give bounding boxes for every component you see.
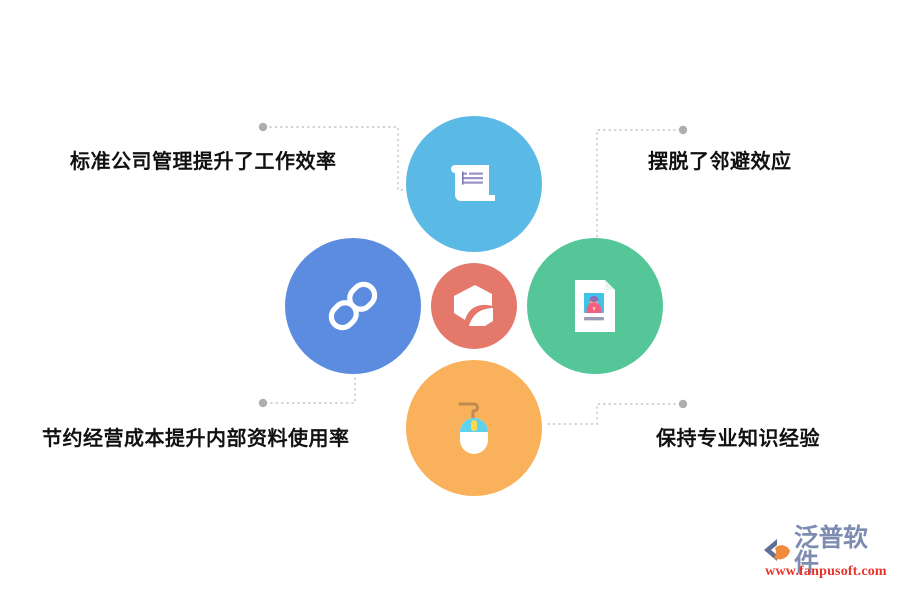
node-circle-center[interactable] <box>431 263 517 349</box>
connector-dot-bottom-left <box>259 399 267 407</box>
fanpu-swoosh-logo-icon <box>762 536 792 564</box>
node-label-bottom-left: 节约经营成本提升内部资料使用率 <box>42 422 350 451</box>
id-card-resume-icon <box>567 274 623 338</box>
node-circle-right[interactable] <box>527 238 663 374</box>
scroll-document-icon <box>443 153 505 215</box>
chain-link-icon <box>321 274 385 338</box>
connector-dot-bottom-right <box>679 400 687 408</box>
leaf-hexagon-logo-icon <box>452 283 496 329</box>
connector-bottom-right <box>545 404 681 424</box>
computer-mouse-icon <box>446 396 502 460</box>
node-label-bottom-right: 保持专业知识经验 <box>656 422 820 451</box>
watermark: 泛普软件 www.fanpusoft.com <box>762 533 890 589</box>
node-circle-bottom[interactable] <box>406 360 542 496</box>
watermark-url: www.fanpusoft.com <box>762 564 890 580</box>
infographic-canvas: 标准公司管理提升了工作效率 摆脱了邻避效应 节约经营成本提升内部资料使用率 保持… <box>0 0 900 600</box>
connector-dot-top-right <box>679 126 687 134</box>
node-label-top-right: 摆脱了邻避效应 <box>648 145 792 174</box>
connector-dot-top-left <box>259 123 267 131</box>
node-label-top-left: 标准公司管理提升了工作效率 <box>70 145 337 174</box>
node-circle-top[interactable] <box>406 116 542 252</box>
node-circle-left[interactable] <box>285 238 421 374</box>
